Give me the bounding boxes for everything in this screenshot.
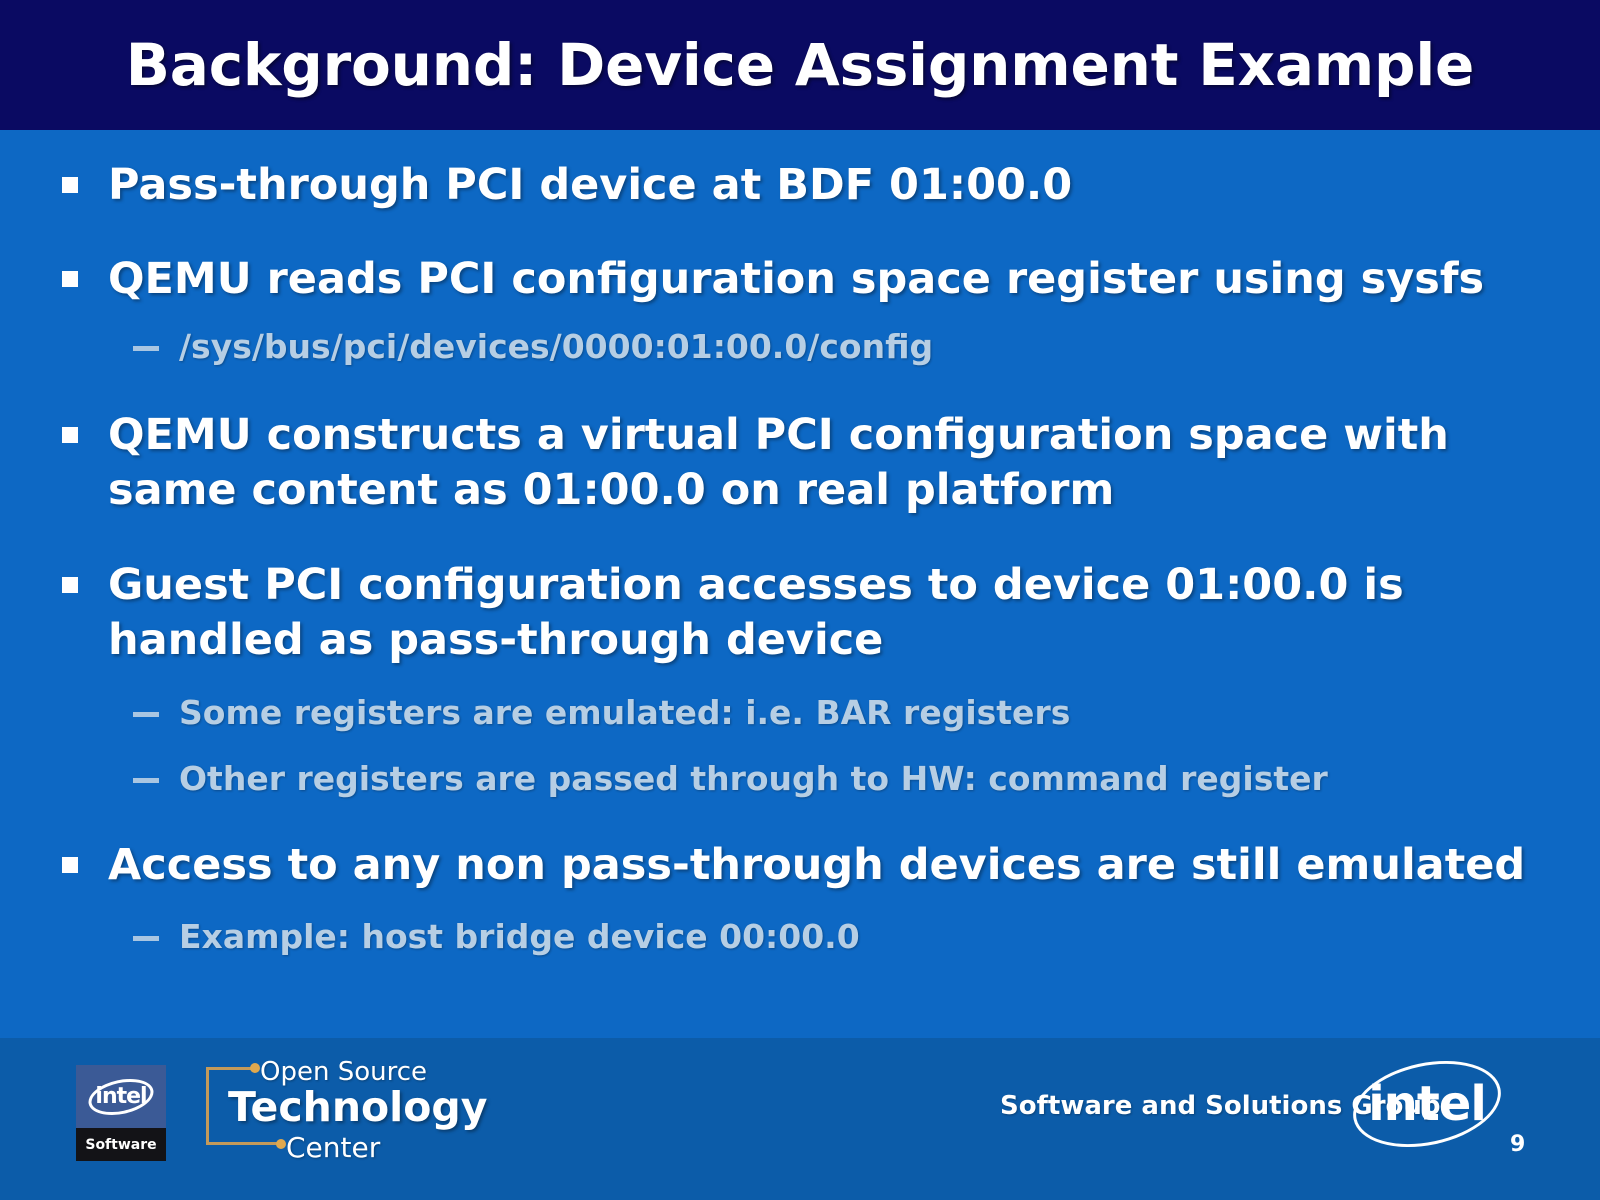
sub-bullet-item-3: Other registers are passed through to HW… — [133, 758, 1328, 799]
intel-software-sublabel: Software — [85, 1137, 156, 1153]
sub-bullet-item-1: /sys/bus/pci/devices/0000:01:00.0/config — [133, 326, 933, 367]
bullet-text: Guest PCI configuration accesses to devi… — [108, 558, 1528, 668]
bullet-text: QEMU constructs a virtual PCI configurat… — [108, 408, 1528, 518]
sub-bullet-text: /sys/bus/pci/devices/0000:01:00.0/config — [179, 326, 933, 367]
bullet-text: Access to any non pass-through devices a… — [108, 838, 1525, 893]
square-bullet-icon — [62, 857, 78, 873]
intel-wordmark: intel — [88, 1080, 154, 1114]
sub-bullet-item-2: Some registers are emulated: i.e. BAR re… — [133, 692, 1070, 733]
slide-title-bar: Background: Device Assignment Example — [0, 0, 1600, 130]
ostc-dot-bottom-icon — [276, 1139, 286, 1149]
dash-bullet-icon — [133, 346, 159, 351]
intel-software-logo: intel Software — [76, 1065, 166, 1161]
ostc-dot-top-icon — [250, 1063, 260, 1073]
intel-logo: intel — [1352, 1063, 1502, 1145]
bullet-item-1: Pass-through PCI device at BDF 01:00.0 — [62, 158, 1072, 213]
sub-bullet-text: Some registers are emulated: i.e. BAR re… — [179, 692, 1070, 733]
bullet-item-3: QEMU constructs a virtual PCI configurat… — [62, 408, 1528, 518]
square-bullet-icon — [62, 577, 78, 593]
sub-bullet-text: Other registers are passed through to HW… — [179, 758, 1328, 799]
slide-content-area: Pass-through PCI device at BDF 01:00.0 Q… — [0, 130, 1600, 1038]
bullet-text: QEMU reads PCI configuration space regis… — [108, 252, 1484, 307]
dash-bullet-icon — [133, 712, 159, 717]
sub-bullet-item-4: Example: host bridge device 00:00.0 — [133, 916, 860, 957]
square-bullet-icon — [62, 427, 78, 443]
square-bullet-icon — [62, 177, 78, 193]
dash-bullet-icon — [133, 936, 159, 941]
bullet-text: Pass-through PCI device at BDF 01:00.0 — [108, 158, 1072, 213]
page-number: 9 — [1510, 1132, 1525, 1157]
intel-brand-mark: intel — [88, 1080, 154, 1114]
page-title: Background: Device Assignment Example — [126, 31, 1474, 99]
dash-bullet-icon — [133, 778, 159, 783]
open-source-technology-center-logo: Open Source Technology Center — [198, 1053, 428, 1165]
sub-bullet-text: Example: host bridge device 00:00.0 — [179, 916, 860, 957]
intel-brand-mark: intel — [1352, 1063, 1502, 1145]
ostc-line2: Technology — [228, 1083, 487, 1131]
bullet-item-4: Guest PCI configuration accesses to devi… — [62, 558, 1528, 668]
bullet-item-2: QEMU reads PCI configuration space regis… — [62, 252, 1484, 307]
intel-wordmark: intel — [1352, 1063, 1502, 1145]
square-bullet-icon — [62, 271, 78, 287]
bullet-item-5: Access to any non pass-through devices a… — [62, 838, 1525, 893]
ostc-line3: Center — [286, 1131, 380, 1164]
intel-swirl-icon: intel — [76, 1065, 166, 1128]
intel-software-sublabel-box: Software — [76, 1128, 166, 1161]
